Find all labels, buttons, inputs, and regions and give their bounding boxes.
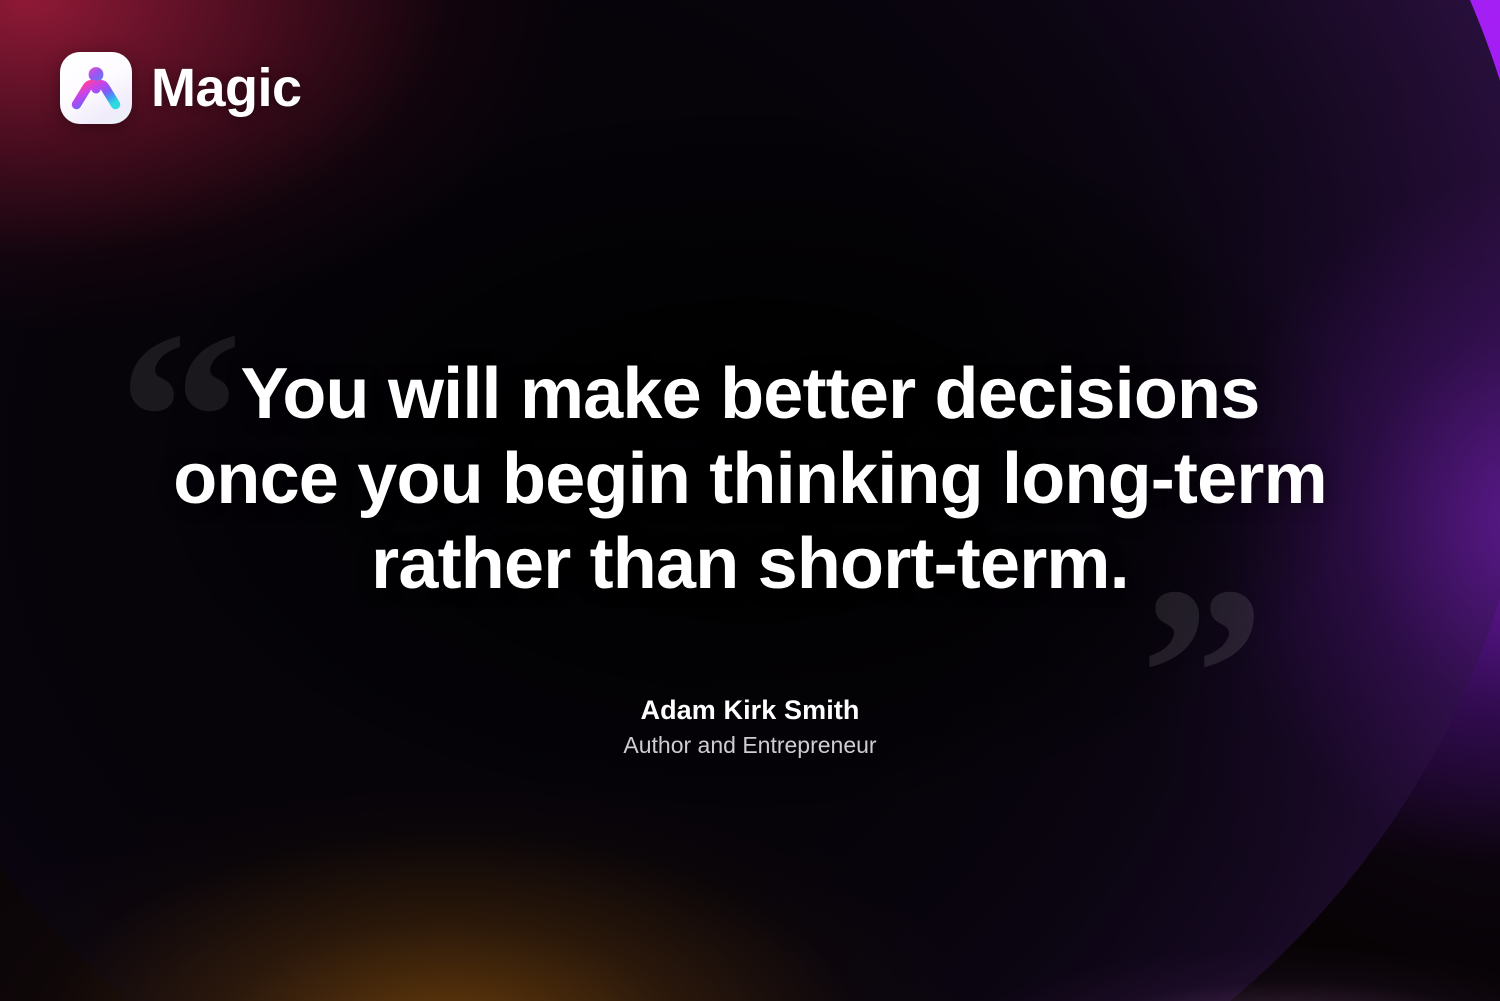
quote-line: rather than short-term. [105, 522, 1395, 607]
brand-logo-lockup[interactable]: Magic [60, 52, 302, 124]
quote-block: “ ” You will make better decisions once … [0, 352, 1500, 607]
brand-wordmark: Magic [151, 61, 302, 115]
quote-card: Magic “ ” You will make better decisions… [0, 0, 1500, 1001]
attribution: Adam Kirk Smith Author and Entrepreneur [0, 694, 1500, 761]
magic-person-m-icon [60, 52, 132, 124]
author-name: Adam Kirk Smith [0, 694, 1500, 728]
quote-line: You will make better decisions [105, 352, 1395, 437]
author-role: Author and Entrepreneur [0, 731, 1500, 761]
quote-line: once you begin thinking long-term [105, 437, 1395, 522]
quote-text: You will make better decisions once you … [105, 352, 1395, 607]
